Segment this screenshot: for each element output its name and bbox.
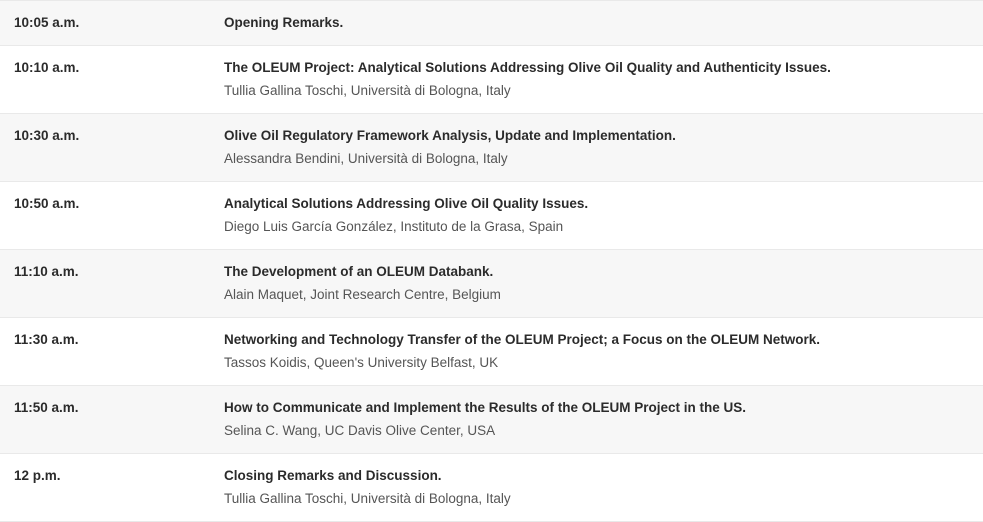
agenda-time-text: 10:30 a.m.	[14, 126, 209, 146]
agenda-row: 11:10 a.m.The Development of an OLEUM Da…	[0, 250, 983, 318]
agenda-session-title: Olive Oil Regulatory Framework Analysis,…	[224, 126, 969, 146]
agenda-time-cell: 12 p.m.	[0, 454, 219, 522]
agenda-time-text: 11:10 a.m.	[14, 262, 209, 282]
agenda-session-title: Closing Remarks and Discussion.	[224, 466, 969, 486]
agenda-row: 10:50 a.m.Analytical Solutions Addressin…	[0, 182, 983, 250]
agenda-time-cell: 10:30 a.m.	[0, 114, 219, 182]
agenda-session-speaker: Alessandra Bendini, Università di Bologn…	[224, 149, 969, 169]
agenda-time-text: 12 p.m.	[14, 466, 209, 486]
agenda-session-speaker: Selina C. Wang, UC Davis Olive Center, U…	[224, 421, 969, 441]
agenda-session-cell: Networking and Technology Transfer of th…	[219, 318, 983, 386]
agenda-session-cell: How to Communicate and Implement the Res…	[219, 386, 983, 454]
agenda-session-title: Opening Remarks.	[224, 13, 969, 33]
agenda-table-body: 10:05 a.m.Opening Remarks.10:10 a.m.The …	[0, 1, 983, 522]
agenda-session-speaker: Alain Maquet, Joint Research Centre, Bel…	[224, 285, 969, 305]
agenda-session-title: The Development of an OLEUM Databank.	[224, 262, 969, 282]
agenda-time-text: 10:50 a.m.	[14, 194, 209, 214]
agenda-session-title: How to Communicate and Implement the Res…	[224, 398, 969, 418]
agenda-time-cell: 11:10 a.m.	[0, 250, 219, 318]
agenda-session-title: Analytical Solutions Addressing Olive Oi…	[224, 194, 969, 214]
agenda-time-cell: 11:50 a.m.	[0, 386, 219, 454]
agenda-time-cell: 10:05 a.m.	[0, 1, 219, 46]
agenda-session-title: The OLEUM Project: Analytical Solutions …	[224, 58, 969, 78]
agenda-row: 10:10 a.m.The OLEUM Project: Analytical …	[0, 46, 983, 114]
agenda-session-cell: Olive Oil Regulatory Framework Analysis,…	[219, 114, 983, 182]
agenda-row: 10:30 a.m.Olive Oil Regulatory Framework…	[0, 114, 983, 182]
agenda-session-speaker: Tassos Koidis, Queen's University Belfas…	[224, 353, 969, 373]
agenda-session-cell: The Development of an OLEUM Databank.Ala…	[219, 250, 983, 318]
agenda-schedule-table: 10:05 a.m.Opening Remarks.10:10 a.m.The …	[0, 0, 983, 522]
agenda-row: 11:50 a.m.How to Communicate and Impleme…	[0, 386, 983, 454]
agenda-session-cell: Opening Remarks.	[219, 1, 983, 46]
agenda-time-cell: 10:10 a.m.	[0, 46, 219, 114]
agenda-time-text: 10:10 a.m.	[14, 58, 209, 78]
agenda-time-cell: 11:30 a.m.	[0, 318, 219, 386]
agenda-row: 10:05 a.m.Opening Remarks.	[0, 1, 983, 46]
agenda-session-speaker: Diego Luis García González, Instituto de…	[224, 217, 969, 237]
agenda-time-cell: 10:50 a.m.	[0, 182, 219, 250]
agenda-row: 11:30 a.m.Networking and Technology Tran…	[0, 318, 983, 386]
agenda-time-text: 11:50 a.m.	[14, 398, 209, 418]
agenda-session-speaker: Tullia Gallina Toschi, Università di Bol…	[224, 81, 969, 101]
agenda-session-title: Networking and Technology Transfer of th…	[224, 330, 969, 350]
agenda-session-cell: Analytical Solutions Addressing Olive Oi…	[219, 182, 983, 250]
agenda-time-text: 11:30 a.m.	[14, 330, 209, 350]
agenda-session-cell: The OLEUM Project: Analytical Solutions …	[219, 46, 983, 114]
agenda-session-cell: Closing Remarks and Discussion.Tullia Ga…	[219, 454, 983, 522]
agenda-time-text: 10:05 a.m.	[14, 13, 209, 33]
agenda-row: 12 p.m.Closing Remarks and Discussion.Tu…	[0, 454, 983, 522]
agenda-session-speaker: Tullia Gallina Toschi, Università di Bol…	[224, 489, 969, 509]
